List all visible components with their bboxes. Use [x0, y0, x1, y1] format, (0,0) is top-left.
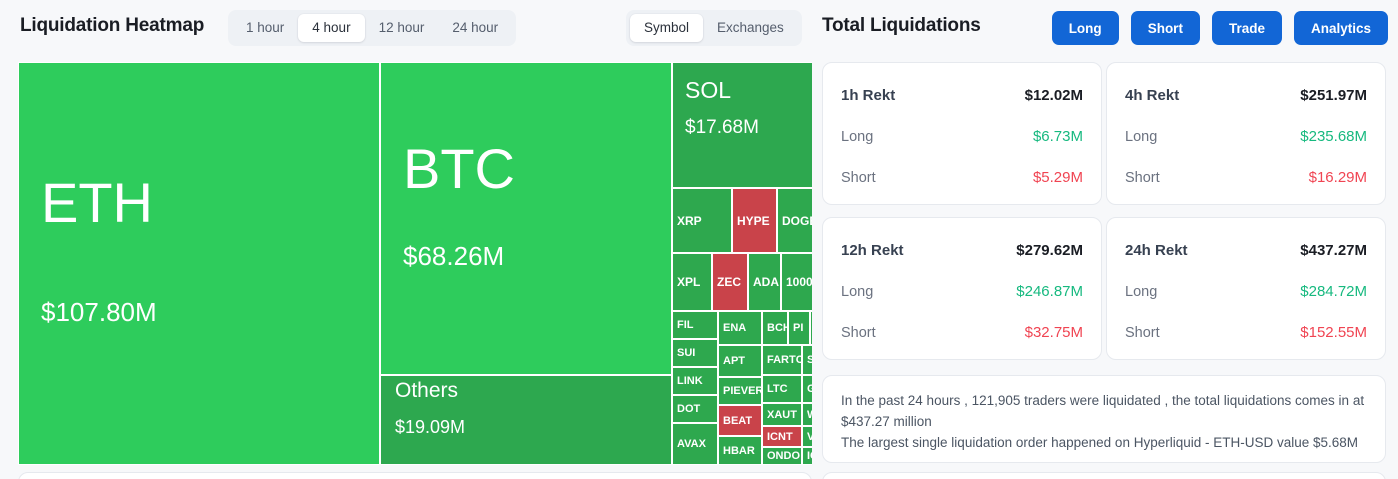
treemap-tile-symbol: BCH	[767, 321, 788, 336]
treemap-tile-xaut[interactable]: XAUT	[762, 403, 802, 426]
long-row-value: $235.68M	[1300, 128, 1367, 145]
rekt-total: 24h Rekt$437.27M	[1125, 242, 1367, 259]
liquidation-treemap[interactable]: ETH$107.80MBTC$68.26MOthers$19.09MSOL$17…	[18, 62, 812, 465]
treemap-tile-symbol: ETH	[41, 172, 153, 234]
treemap-tile-zec[interactable]: ZEC	[712, 253, 748, 311]
bottom-panel-stub-left	[18, 472, 812, 479]
treemap-tile-symbol: PIEVERSE	[723, 384, 762, 399]
rekt-total-value: $279.62M	[1016, 242, 1083, 259]
treemap-tile-fartcoin[interactable]: FARTCOIN	[762, 345, 802, 375]
treemap-tile-ada[interactable]: ADA	[748, 253, 781, 311]
treemap-tile-symbol: DOT	[677, 402, 700, 417]
treemap-tile-symbol: XPL	[677, 274, 700, 291]
treemap-tile-wld[interactable]: WLD	[802, 403, 812, 426]
treemap-tile-symbol: LINK	[677, 374, 703, 389]
treemap-tile-icp[interactable]: ICP	[802, 447, 812, 465]
treemap-tile-1000pepe[interactable]: 1000PEPE	[781, 253, 812, 311]
treemap-tile-value: $17.68M	[685, 117, 759, 139]
treemap-tile-symbol: 1000PEPE	[786, 274, 812, 291]
short-row: Short$16.29M	[1125, 169, 1367, 186]
treemap-tile-avax[interactable]: AVAX	[672, 423, 718, 465]
treemap-tile-s[interactable]: S	[802, 345, 812, 375]
short-button[interactable]: Short	[1131, 11, 1200, 45]
long-row-label: Long	[841, 129, 873, 145]
treemap-tile-xpl[interactable]: XPL	[672, 253, 712, 311]
short-row-value: $16.29M	[1309, 169, 1367, 186]
treemap-tile-symbol: ADA	[753, 274, 779, 291]
treemap-tile-hbar[interactable]: HBAR	[718, 436, 762, 465]
treemap-tile-bch[interactable]: BCH	[762, 311, 788, 345]
total-liquidations-title: Total Liquidations	[822, 15, 981, 37]
treemap-tile-symbol: S	[807, 353, 812, 368]
stat-card-12h: 12h Rekt$279.62MLong$246.87MShort$32.75M	[822, 217, 1102, 360]
short-row-label: Short	[841, 170, 876, 186]
treemap-tile-value: $107.80M	[41, 297, 157, 328]
short-row-label: Short	[841, 325, 876, 341]
short-row: Short$5.29M	[841, 169, 1083, 186]
treemap-tile-symbol: Others	[395, 379, 458, 402]
treemap-tile-symbol: FIL	[677, 318, 694, 333]
treemap-tile-symbol: VIRTUAL	[807, 430, 812, 445]
long-row: Long$284.72M	[1125, 283, 1367, 300]
treemap-tile-value: $68.26M	[403, 241, 504, 272]
rekt-total-value: $12.02M	[1025, 87, 1083, 104]
short-row-label: Short	[1125, 170, 1160, 186]
treemap-tile-icnt[interactable]: ICNT	[762, 426, 802, 447]
rekt-total-label: 12h Rekt	[841, 242, 904, 259]
treemap-tile-symbol: ZEC	[717, 274, 741, 291]
treemap-tile-ena[interactable]: ENA	[718, 311, 762, 345]
timeframe-tab-1-hour[interactable]: 1 hour	[232, 14, 298, 42]
treemap-tile-symbol: GIGGLE	[807, 382, 812, 397]
short-row-value: $152.55M	[1300, 324, 1367, 341]
treemap-tile-pi[interactable]: PI	[788, 311, 810, 345]
treemap-tile-fil[interactable]: FIL	[672, 311, 718, 339]
treemap-tile-doge[interactable]: DOGE	[777, 188, 812, 253]
treemap-tile-symbol: LTC	[767, 382, 788, 397]
short-row: Short$32.75M	[841, 324, 1083, 341]
long-row: Long$235.68M	[1125, 128, 1367, 145]
rekt-total: 12h Rekt$279.62M	[841, 242, 1083, 259]
treemap-tile-sol[interactable]: SOL$17.68M	[672, 62, 812, 188]
bottom-panel-stub-right	[822, 472, 1386, 479]
long-row-label: Long	[1125, 129, 1157, 145]
treemap-tile-hype[interactable]: HYPE	[732, 188, 777, 253]
treemap-tile-others[interactable]: Others$19.09M	[380, 375, 672, 465]
stat-card-4h: 4h Rekt$251.97MLong$235.68MShort$16.29M	[1106, 62, 1386, 205]
rekt-total-value: $251.97M	[1300, 87, 1367, 104]
rekt-total-label: 24h Rekt	[1125, 242, 1188, 259]
treemap-tile-eth[interactable]: ETH$107.80M	[18, 62, 380, 465]
treemap-tile-pieverse[interactable]: PIEVERSE	[718, 377, 762, 405]
treemap-tile-symbol: SOL	[685, 78, 731, 103]
treemap-tile-ltc[interactable]: LTC	[762, 375, 802, 403]
treemap-tile-virtual[interactable]: VIRTUAL	[802, 426, 812, 447]
treemap-tile-symbol: PI	[793, 321, 803, 336]
long-row: Long$6.73M	[841, 128, 1083, 145]
summary-line-1: In the past 24 hours , 121,905 traders w…	[841, 390, 1367, 432]
timeframe-tab-group[interactable]: 1 hour4 hour12 hour24 hour	[228, 10, 516, 46]
treemap-tile-symbol: WLD	[807, 408, 812, 423]
rekt-total: 4h Rekt$251.97M	[1125, 87, 1367, 104]
long-button[interactable]: Long	[1052, 11, 1119, 45]
rekt-total-label: 4h Rekt	[1125, 87, 1179, 104]
short-row: Short$152.55M	[1125, 324, 1367, 341]
long-row: Long$246.87M	[841, 283, 1083, 300]
view-mode-tab-group[interactable]: SymbolExchanges	[626, 10, 802, 46]
treemap-tile-btc[interactable]: BTC$68.26M	[380, 62, 672, 375]
treemap-tile-symbol: XAUT	[767, 408, 797, 423]
long-row-value: $284.72M	[1300, 283, 1367, 300]
treemap-tile-symbol: ENA	[723, 321, 746, 336]
short-row-value: $5.29M	[1033, 169, 1083, 186]
timeframe-tab-12-hour[interactable]: 12 hour	[365, 14, 439, 42]
analytics-button[interactable]: Analytics	[1294, 11, 1388, 45]
treemap-tile-symbol: ICP	[807, 449, 812, 464]
rekt-total-value: $437.27M	[1300, 242, 1367, 259]
treemap-tile-symbol: BEAT	[723, 414, 752, 429]
header-bar: Liquidation Heatmap 1 hour4 hour12 hour2…	[0, 0, 1398, 56]
treemap-tile-giggle[interactable]: GIGGLE	[802, 375, 812, 403]
summary-panel: In the past 24 hours , 121,905 traders w…	[822, 375, 1386, 463]
treemap-tile-symbol: ICNT	[767, 430, 793, 445]
treemap-tile-symbol: ONDO	[767, 449, 800, 464]
treemap-tile-symbol: AVAX	[677, 437, 706, 452]
timeframe-tab-4-hour[interactable]: 4 hour	[298, 14, 364, 42]
treemap-tile-symbol: XRP	[677, 213, 702, 230]
view-mode-tab-exchanges[interactable]: Exchanges	[703, 14, 798, 42]
timeframe-tab-24-hour[interactable]: 24 hour	[438, 14, 512, 42]
long-row-value: $6.73M	[1033, 128, 1083, 145]
treemap-tile-sui[interactable]: SUI	[672, 339, 718, 367]
view-mode-tab-symbol[interactable]: Symbol	[630, 14, 703, 42]
trade-button[interactable]: Trade	[1212, 11, 1282, 45]
treemap-tile-symbol: HYPE	[737, 213, 770, 230]
treemap-tile-value: $19.09M	[395, 417, 465, 438]
summary-line-2: The largest single liquidation order hap…	[841, 432, 1367, 453]
treemap-tile-link[interactable]: LINK	[672, 367, 718, 395]
rekt-total-label: 1h Rekt	[841, 87, 895, 104]
treemap-tile-ondo[interactable]: ONDO	[762, 447, 802, 465]
treemap-tile-symbol: SUI	[677, 346, 695, 361]
treemap-tile-symbol: BTC	[403, 138, 515, 200]
liquidation-dashboard: Liquidation Heatmap 1 hour4 hour12 hour2…	[0, 0, 1398, 479]
long-row-label: Long	[1125, 284, 1157, 300]
treemap-tile-symbol: HBAR	[723, 444, 755, 459]
treemap-tile-beat[interactable]: BEAT	[718, 405, 762, 436]
treemap-tile-zro[interactable]: ZRO	[810, 311, 812, 345]
short-row-label: Short	[1125, 325, 1160, 341]
treemap-tile-apt[interactable]: APT	[718, 345, 762, 377]
long-row-value: $246.87M	[1016, 283, 1083, 300]
treemap-tile-symbol: DOGE	[782, 213, 812, 230]
treemap-tile-symbol: APT	[723, 354, 745, 369]
action-button-group[interactable]: LongShortTradeAnalytics	[1052, 11, 1388, 45]
treemap-tile-dot[interactable]: DOT	[672, 395, 718, 423]
stat-card-24h: 24h Rekt$437.27MLong$284.72MShort$152.55…	[1106, 217, 1386, 360]
treemap-tile-symbol: FARTCOIN	[767, 353, 802, 368]
short-row-value: $32.75M	[1025, 324, 1083, 341]
treemap-tile-xrp[interactable]: XRP	[672, 188, 732, 253]
page-title: Liquidation Heatmap	[20, 15, 204, 37]
stat-card-1h: 1h Rekt$12.02MLong$6.73MShort$5.29M	[822, 62, 1102, 205]
rekt-total: 1h Rekt$12.02M	[841, 87, 1083, 104]
long-row-label: Long	[841, 284, 873, 300]
